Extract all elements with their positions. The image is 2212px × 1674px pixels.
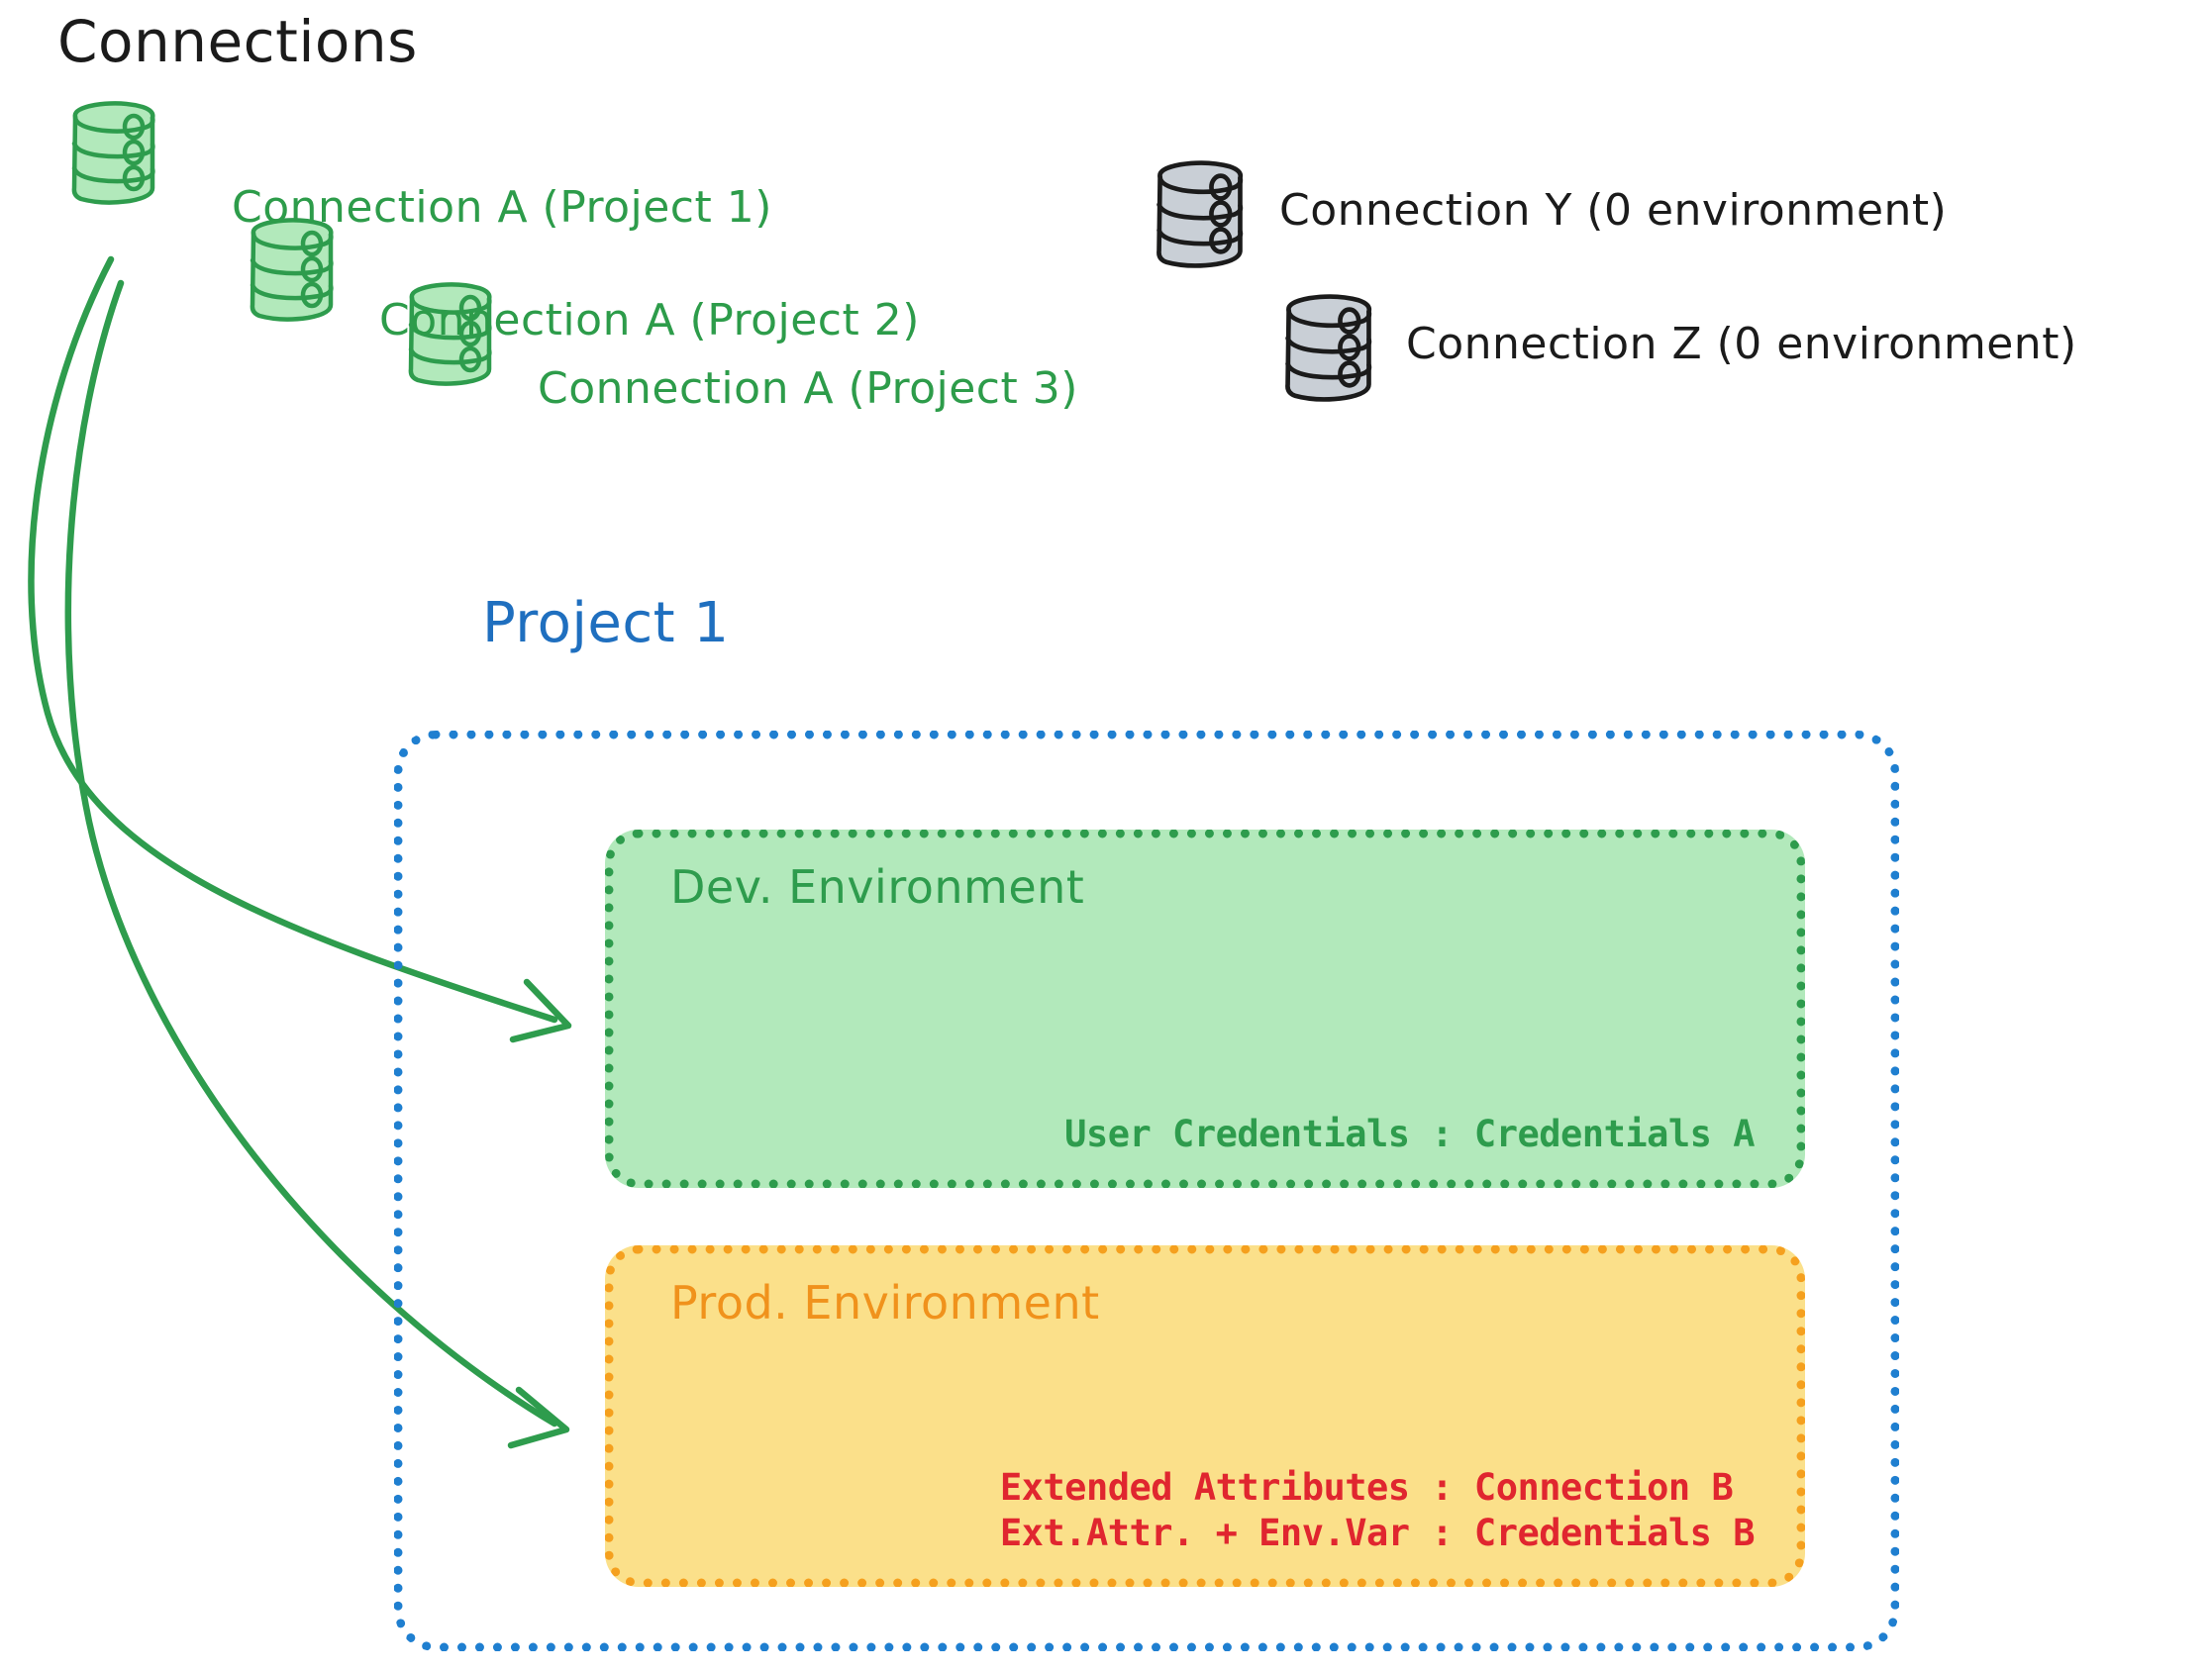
dev-environment-box: Dev. Environment User Credentials : Cred… xyxy=(605,830,1805,1188)
prod-environment-attributes: Extended Attributes : Connection B Ext.A… xyxy=(1000,1465,1755,1557)
project-title: Project 1 xyxy=(482,591,730,655)
prod-environment-title: Prod. Environment xyxy=(670,1276,1100,1329)
prod-environment-line-1: Extended Attributes : Connection B xyxy=(1000,1465,1755,1511)
section-title: Connections xyxy=(57,8,418,75)
connection-label-y: Connection Y (0 environment) xyxy=(1279,185,1947,236)
connection-label-z: Connection Z (0 environment) xyxy=(1406,319,2077,369)
database-icon-connection-z xyxy=(1279,292,1376,403)
connection-label-a-project-3: Connection A (Project 3) xyxy=(538,363,1078,414)
prod-environment-line-2: Ext.Attr. + Env.Var : Credentials B xyxy=(1000,1511,1755,1556)
connection-label-a-project-2: Connection A (Project 2) xyxy=(379,295,920,345)
connection-label-a-project-1: Connection A (Project 1) xyxy=(232,182,772,233)
database-icon-connection-a-project-1 xyxy=(67,99,158,206)
dev-environment-title: Dev. Environment xyxy=(670,860,1084,914)
dev-environment-line-1: User Credentials : Credentials A xyxy=(1064,1112,1755,1157)
dev-environment-attributes: User Credentials : Credentials A xyxy=(1064,1112,1755,1157)
prod-environment-box: Prod. Environment Extended Attributes : … xyxy=(605,1245,1805,1587)
diagram-canvas: Connections xyxy=(0,0,2212,1674)
database-icon-connection-y xyxy=(1151,158,1248,269)
